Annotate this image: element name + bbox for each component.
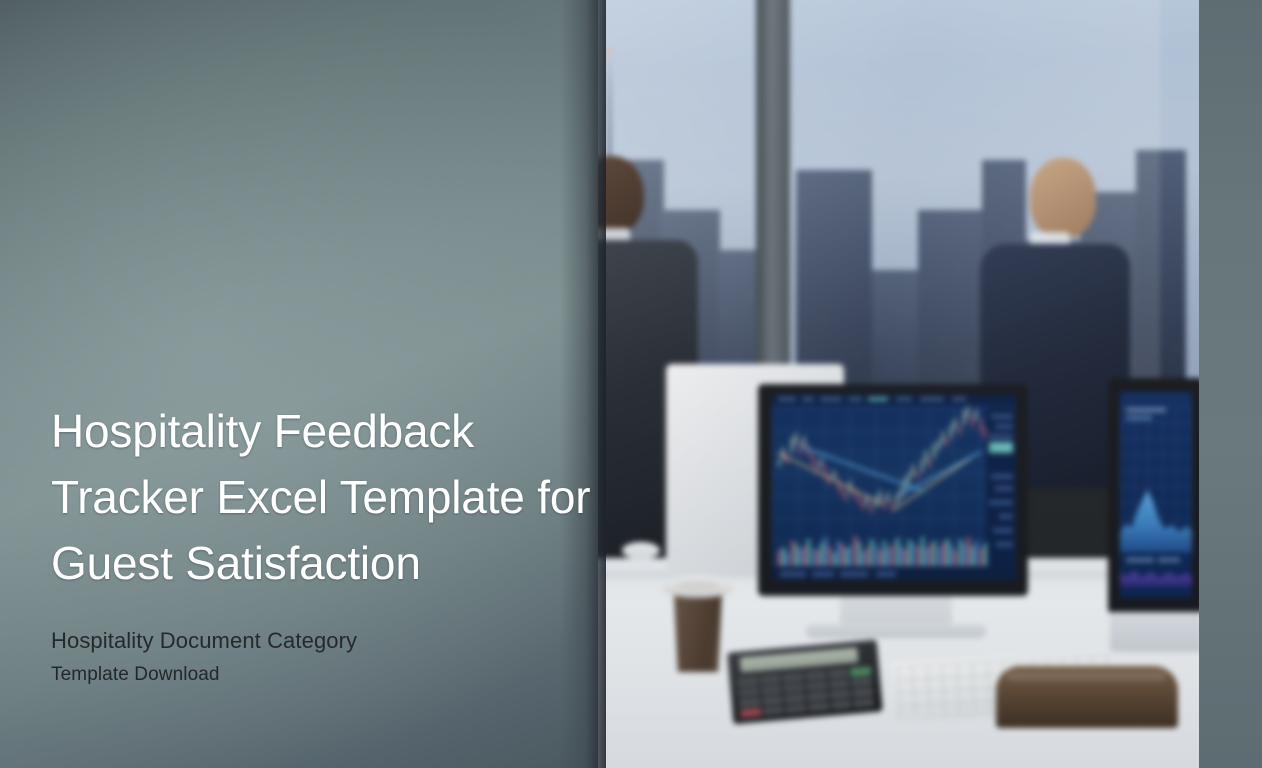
hero-slide: Hospitality Feedback Tracker Excel Templ… [0,0,1262,768]
subtitle-group: Hospitality Document Category Template D… [51,624,591,692]
document-category-label: Hospitality Document Category [51,624,591,658]
page-title: Hospitality Feedback Tracker Excel Templ… [51,398,591,596]
template-download-label: Template Download [51,658,591,692]
right-edge-band [1199,0,1262,768]
slide-content: Hospitality Feedback Tracker Excel Templ… [51,398,591,692]
